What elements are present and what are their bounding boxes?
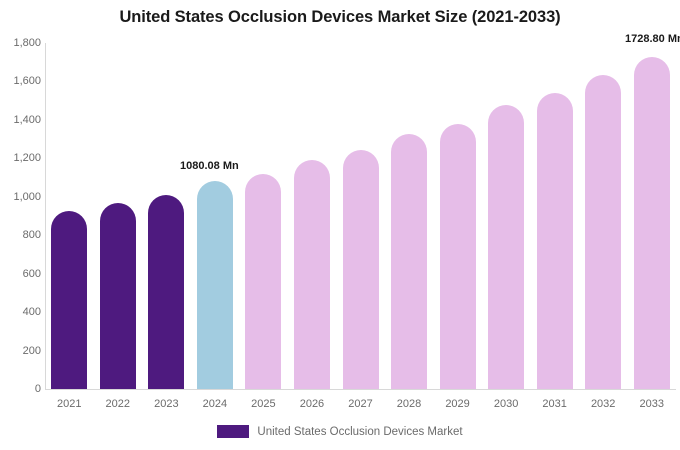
- y-axis-tick-200: 200: [3, 345, 41, 357]
- y-axis-tick-0: 0: [3, 383, 41, 395]
- y-axis-tick-labels: 02004006008001,0001,2001,4001,6001,800: [0, 0, 41, 450]
- bar-2031[interactable]: [537, 93, 573, 389]
- bar-2026[interactable]: [294, 160, 330, 389]
- bar-2024[interactable]: [197, 181, 233, 389]
- chart-legend: United States Occlusion Devices Market: [0, 425, 680, 438]
- data-label-2024: 1080.08 Mn: [180, 160, 239, 172]
- bar-slot-2025: [245, 43, 281, 389]
- bar-slot-2022: [100, 43, 136, 389]
- y-axis-tick-1800: 1,800: [3, 37, 41, 49]
- bar-2022[interactable]: [100, 203, 136, 389]
- bar-slot-2024: [197, 43, 233, 389]
- plot-area: [45, 43, 676, 389]
- bar-slot-2033: [634, 43, 670, 389]
- bar-slot-2027: [343, 43, 379, 389]
- bar-2025[interactable]: [245, 174, 281, 389]
- bar-2027[interactable]: [343, 150, 379, 389]
- bar-slot-2021: [51, 43, 87, 389]
- bar-2028[interactable]: [391, 134, 427, 389]
- bar-2021[interactable]: [51, 211, 87, 389]
- y-axis-tick-1400: 1,400: [3, 114, 41, 126]
- bar-2032[interactable]: [585, 75, 621, 389]
- y-axis-tick-1600: 1,600: [3, 75, 41, 87]
- bar-slot-2032: [585, 43, 621, 389]
- legend-label: United States Occlusion Devices Market: [257, 426, 462, 438]
- bar-slot-2023: [148, 43, 184, 389]
- y-axis-tick-800: 800: [3, 229, 41, 241]
- bar-2023[interactable]: [148, 195, 184, 389]
- chart-title: United States Occlusion Devices Market S…: [0, 8, 680, 27]
- y-axis-tick-1200: 1,200: [3, 152, 41, 164]
- y-axis-tick-600: 600: [3, 268, 41, 280]
- bar-slot-2030: [488, 43, 524, 389]
- x-axis-tick-2033: 2033: [624, 398, 680, 410]
- bar-2033[interactable]: [634, 57, 670, 389]
- bar-2029[interactable]: [440, 124, 476, 389]
- bar-slot-2029: [440, 43, 476, 389]
- bar-slot-2031: [537, 43, 573, 389]
- legend-swatch-icon: [217, 425, 249, 438]
- chart-container: United States Occlusion Devices Market S…: [0, 0, 680, 450]
- bar-2030[interactable]: [488, 105, 524, 389]
- bar-slot-2028: [391, 43, 427, 389]
- y-axis-tick-400: 400: [3, 306, 41, 318]
- data-label-2033: 1728.80 Mn: [625, 33, 680, 45]
- x-axis-line: [45, 389, 676, 390]
- bar-slot-2026: [294, 43, 330, 389]
- y-axis-tick-1000: 1,000: [3, 191, 41, 203]
